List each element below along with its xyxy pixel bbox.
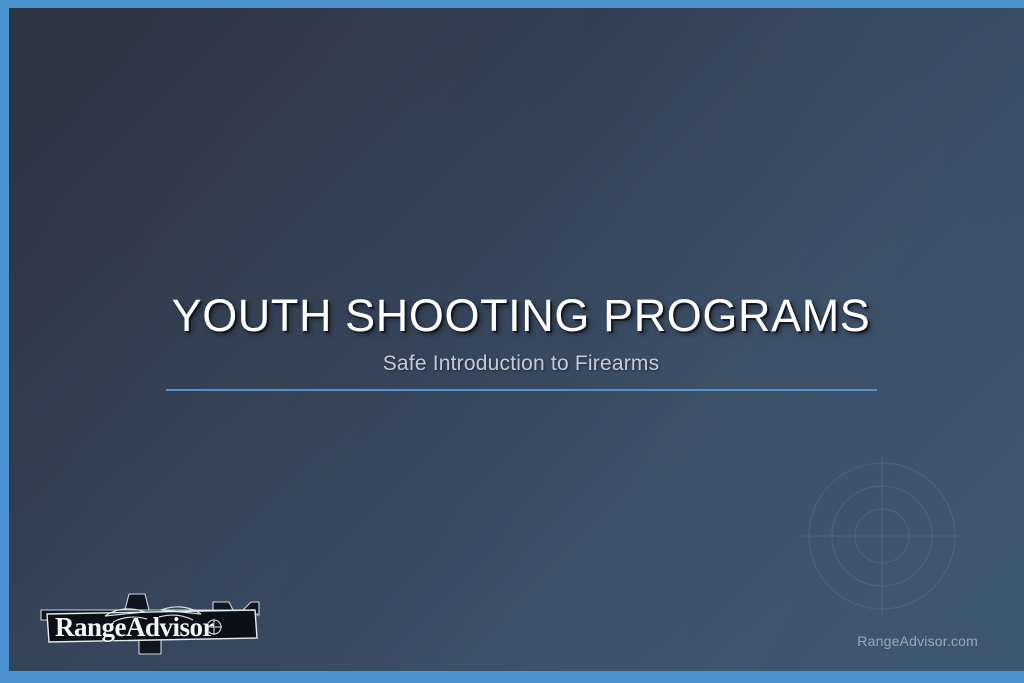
slide-title: YOUTH SHOOTING PROGRAMS [9,292,1024,340]
presentation-slide: YOUTH SHOOTING PROGRAMS Safe Introductio… [0,0,1024,683]
logo-wordmark-text: RangeAdvisor [55,612,215,642]
target-crosshair-icon [799,453,965,619]
frame-accent-top [0,0,1024,8]
title-block: YOUTH SHOOTING PROGRAMS Safe Introductio… [9,292,1024,376]
frame-accent-left [0,0,9,683]
svg-text:™: ™ [254,613,260,620]
accent-divider [166,389,877,391]
slide-canvas: YOUTH SHOOTING PROGRAMS Safe Introductio… [9,8,1024,671]
brand-logo: RangeAdvisor ™ [33,580,273,660]
frame-accent-bottom [0,671,1024,683]
footer-website-url: RangeAdvisor.com [857,633,978,649]
slide-subtitle: Safe Introduction to Firearms [9,352,1024,376]
